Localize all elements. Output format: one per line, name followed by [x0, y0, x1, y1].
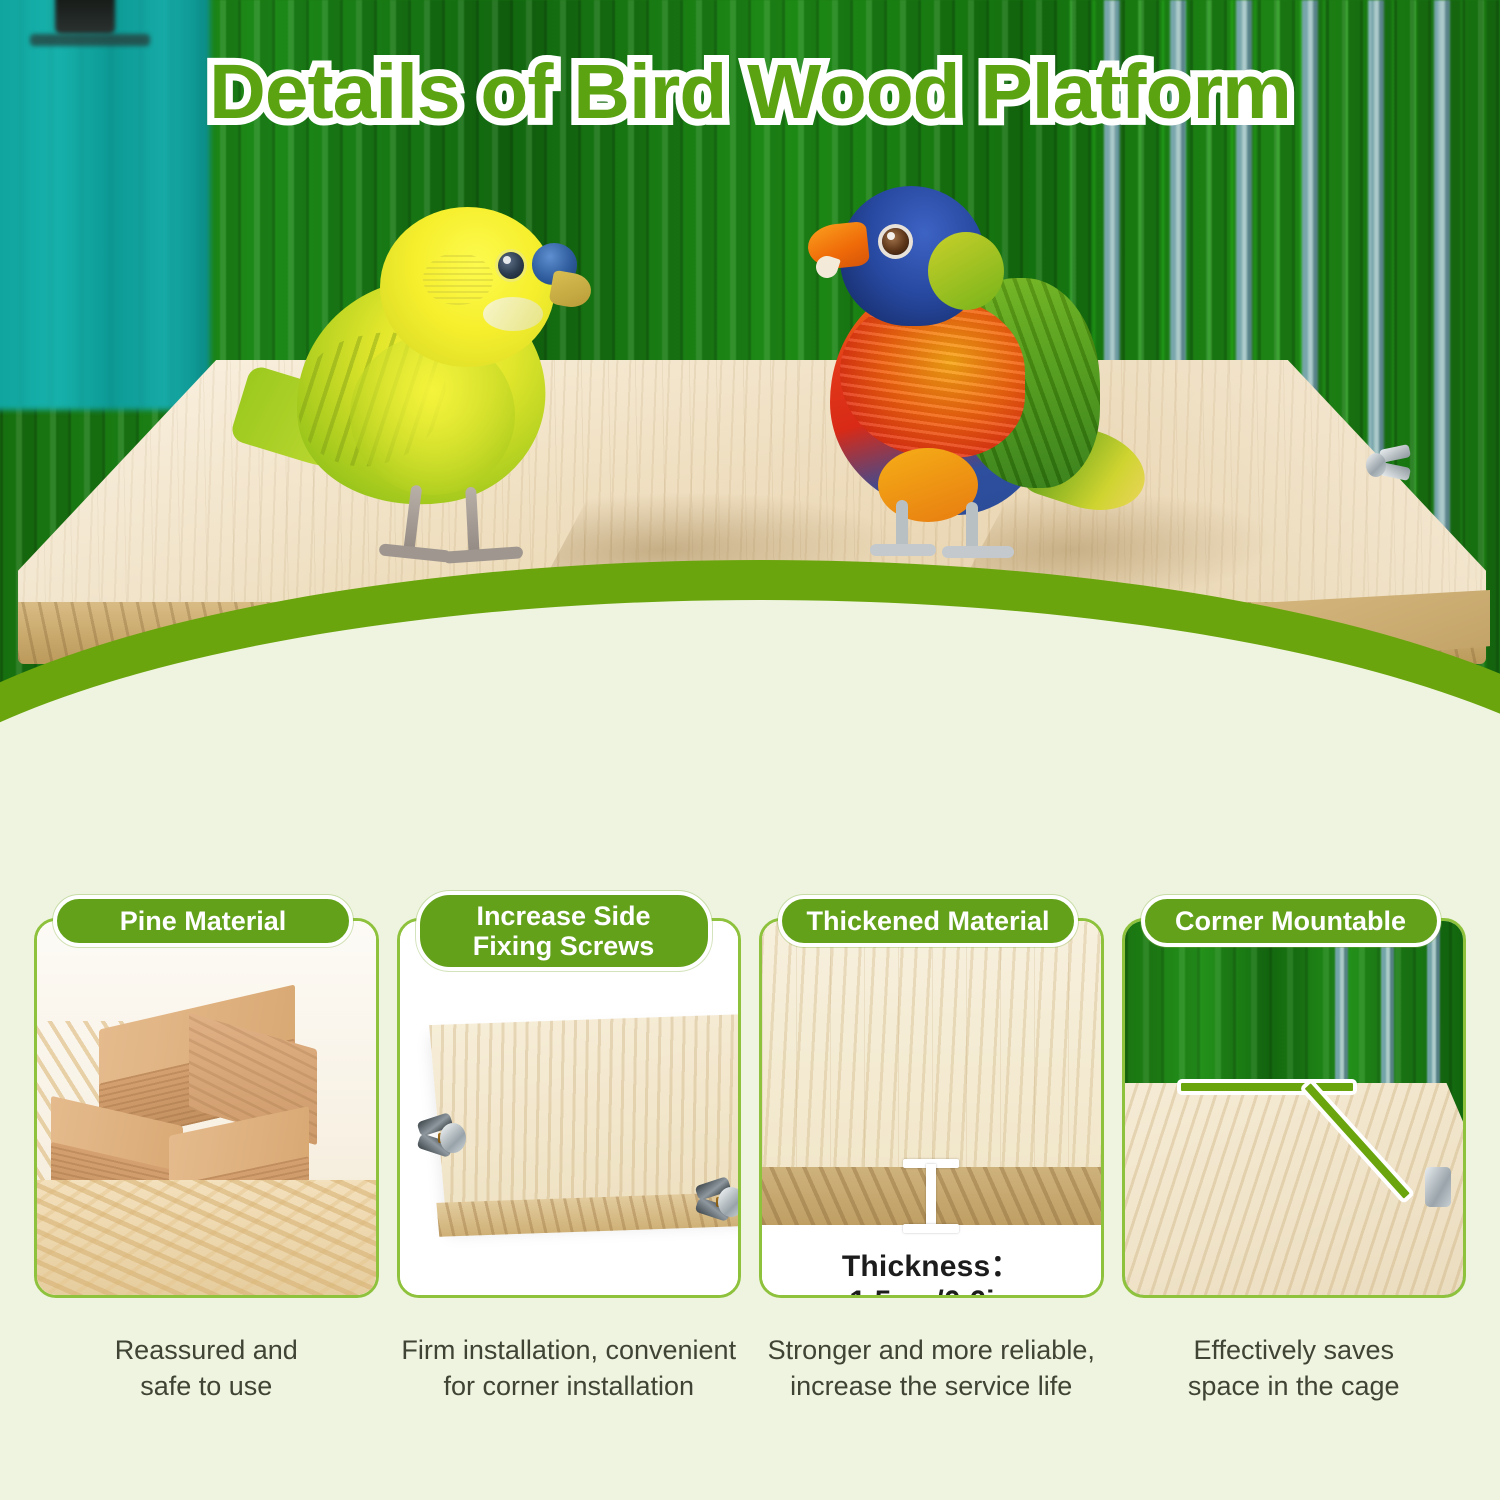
- feature-card-art-1: [37, 921, 376, 1295]
- feature-card-art-3: Thickness： 1.5cm/0.6in: [762, 921, 1101, 1295]
- feature-badge-3: Thickened Material: [778, 895, 1078, 947]
- product-infographic: Details of Bird Wood Platform: [0, 0, 1500, 1500]
- feature-card-pine-material[interactable]: Pine Material: [34, 918, 379, 1298]
- cage-crossbar: [30, 34, 150, 46]
- feature-badge-1: Pine Material: [53, 895, 353, 947]
- feature-card-thickened-material[interactable]: Thickness： 1.5cm/0.6in Thickened Materia…: [759, 918, 1104, 1298]
- feature-caption-3: Stronger and more reliable, increase the…: [759, 1332, 1104, 1405]
- feature-caption-1: Reassured and safe to use: [34, 1332, 379, 1405]
- feature-badge-2: Increase Side Fixing Screws: [416, 891, 712, 971]
- cage-clip-icon: [55, 0, 115, 34]
- feature-captions: Reassured and safe to use Firm installat…: [34, 1332, 1466, 1405]
- wingnut-screw-icon-left: [418, 1117, 474, 1157]
- feature-card-art-4: [1125, 921, 1464, 1295]
- features-section: Pine Material: [0, 840, 1500, 1500]
- wingnut-screw-icon-right: [696, 1181, 739, 1221]
- wingnut-screw-icon: [1366, 447, 1420, 481]
- corner-screw-icon: [1425, 1167, 1451, 1207]
- feature-card-corner-mountable[interactable]: Corner Mountable: [1122, 918, 1467, 1298]
- rainbow-lorikeet-bird: [800, 180, 1140, 580]
- feature-caption-4: Effectively saves space in the cage: [1122, 1332, 1467, 1405]
- feature-cards: Pine Material: [34, 918, 1466, 1298]
- thickness-measure-icon: [903, 1159, 959, 1233]
- hero-section: Details of Bird Wood Platform: [0, 0, 1500, 840]
- feature-card-side-fixing-screws[interactable]: Increase Side Fixing Screws: [397, 918, 742, 1298]
- corner-angle-annotation: [1177, 1073, 1427, 1203]
- feature-badge-4: Corner Mountable: [1141, 895, 1441, 947]
- page-title: Details of Bird Wood Platform: [0, 48, 1500, 137]
- feature-caption-2: Firm installation, convenient for corner…: [397, 1332, 742, 1405]
- feature-card-art-2: [400, 921, 739, 1295]
- budgerigar-bird: [255, 185, 675, 585]
- thickness-label: Thickness： 1.5cm/0.6in: [762, 1241, 1101, 1295]
